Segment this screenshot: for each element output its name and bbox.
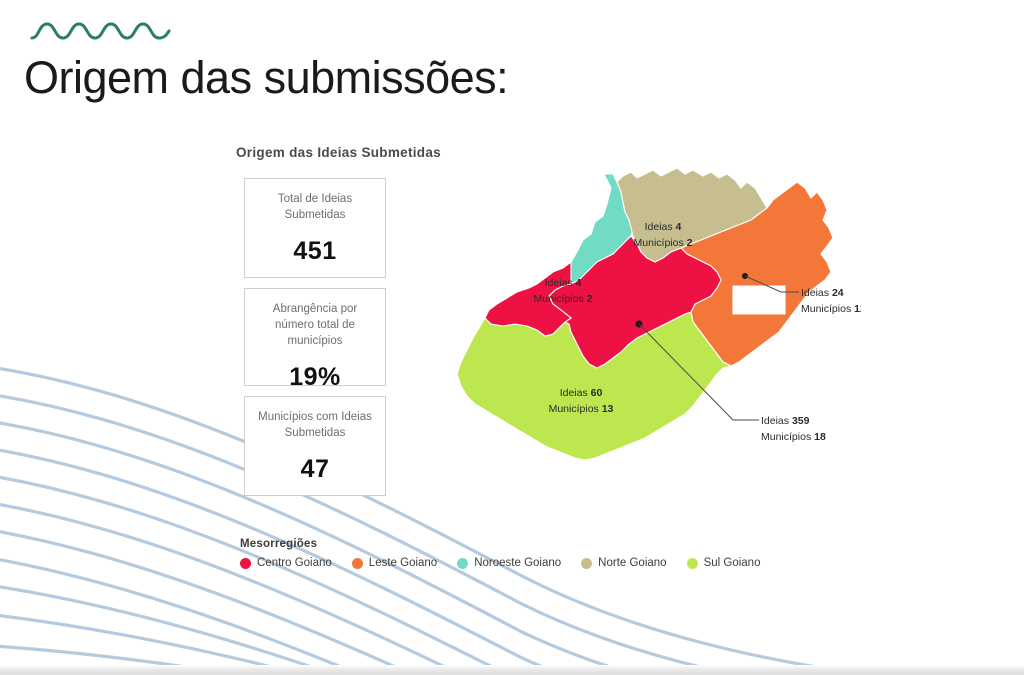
kpi-value: 19%	[289, 363, 341, 392]
legend-item-centro-goiano[interactable]: Centro Goiano	[240, 557, 332, 569]
map-label-text: Municípios	[801, 303, 854, 315]
legend-color-swatch-icon	[240, 558, 251, 569]
map-label-noroeste-goiano-ideias: Ideias 4	[545, 277, 582, 289]
map-legend: Mesorregiões Centro Goiano Leste Goiano …	[240, 538, 860, 569]
map-label-value: 60	[591, 387, 603, 399]
map-label-value: 24	[832, 287, 844, 299]
map-label-sul-goiano-municipios: Municípios 13	[549, 403, 614, 415]
map-label-centro-goiano-ideias: Ideias 359	[761, 415, 810, 427]
legend-item-label: Norte Goiano	[598, 557, 666, 569]
map-label-text: Ideias	[645, 221, 676, 233]
map-label-text: Ideias	[560, 387, 591, 399]
legend-item-label: Noroeste Goiano	[474, 557, 561, 569]
map-label-norte-goiano-ideias: Ideias 4	[645, 221, 682, 233]
map-label-leste-goiano-municipios: Municípios 12	[801, 303, 861, 315]
kpi-value: 451	[293, 237, 336, 266]
legend-item-label: Sul Goiano	[704, 557, 761, 569]
kpi-value: 47	[301, 455, 330, 484]
map-label-text: Ideias	[545, 277, 576, 289]
kpi-label: Total de Ideias Submetidas	[254, 192, 376, 224]
map-label-text: Ideias	[801, 287, 832, 299]
map-label-value: 359	[792, 415, 810, 427]
map-label-value: 2	[587, 293, 593, 305]
legend-color-swatch-icon	[581, 558, 592, 569]
legend-items: Centro Goiano Leste Goiano Noroeste Goia…	[240, 557, 860, 569]
map-label-text: Municípios	[761, 431, 814, 443]
page-title: Origem das submissões:	[24, 52, 508, 104]
report-title: Origem das Ideias Submetidas	[236, 145, 441, 160]
map-label-value: 4	[676, 221, 682, 233]
map-label-text: Municípios	[549, 403, 602, 415]
map-label-leste-goiano-ideias: Ideias 24	[801, 287, 844, 299]
goias-mesoregions-map[interactable]: Ideias 4 Municípios 2 Ideias 4 Município…	[441, 158, 861, 488]
legend-item-sul-goiano[interactable]: Sul Goiano	[687, 557, 761, 569]
legend-item-label: Leste Goiano	[369, 557, 437, 569]
legend-color-swatch-icon	[687, 558, 698, 569]
map-label-value: 13	[602, 403, 614, 415]
map-label-value: 18	[814, 431, 826, 443]
map-label-sul-goiano-ideias: Ideias 60	[560, 387, 603, 399]
legend-item-norte-goiano[interactable]: Norte Goiano	[581, 557, 666, 569]
map-label-norte-goiano-municipios: Municípios 2	[634, 237, 693, 249]
map-label-value: 2	[687, 237, 693, 249]
map-label-centro-goiano-municipios: Municípios 18	[761, 431, 826, 443]
map-label-text: Municípios	[534, 293, 587, 305]
legend-color-swatch-icon	[457, 558, 468, 569]
legend-title: Mesorregiões	[240, 538, 860, 550]
kpi-card-municipios[interactable]: Municípios com Ideias Submetidas 47	[244, 396, 386, 496]
kpi-label: Municípios com Ideias Submetidas	[254, 410, 376, 442]
report-panel: Origem das Ideias Submetidas Total de Id…	[236, 140, 876, 580]
legend-item-noroeste-goiano[interactable]: Noroeste Goiano	[457, 557, 561, 569]
kpi-card-total-ideias[interactable]: Total de Ideias Submetidas 451	[244, 178, 386, 278]
legend-item-label: Centro Goiano	[257, 557, 332, 569]
kpi-label: Abrangência por número total de municípi…	[254, 302, 376, 350]
map-label-text: Municípios	[634, 237, 687, 249]
map-label-value: 12	[854, 303, 861, 315]
map-label-value: 4	[576, 277, 582, 289]
presentation-slide: Origem das submissões: Origem das Ideias…	[0, 0, 1024, 675]
legend-item-leste-goiano[interactable]: Leste Goiano	[352, 557, 437, 569]
map-label-text: Ideias	[761, 415, 792, 427]
wave-squiggle-icon	[29, 16, 179, 46]
legend-color-swatch-icon	[352, 558, 363, 569]
bottom-edge-strip	[0, 665, 1024, 675]
kpi-card-abrangencia[interactable]: Abrangência por número total de municípi…	[244, 288, 386, 386]
map-label-noroeste-goiano-municipios: Municípios 2	[534, 293, 593, 305]
